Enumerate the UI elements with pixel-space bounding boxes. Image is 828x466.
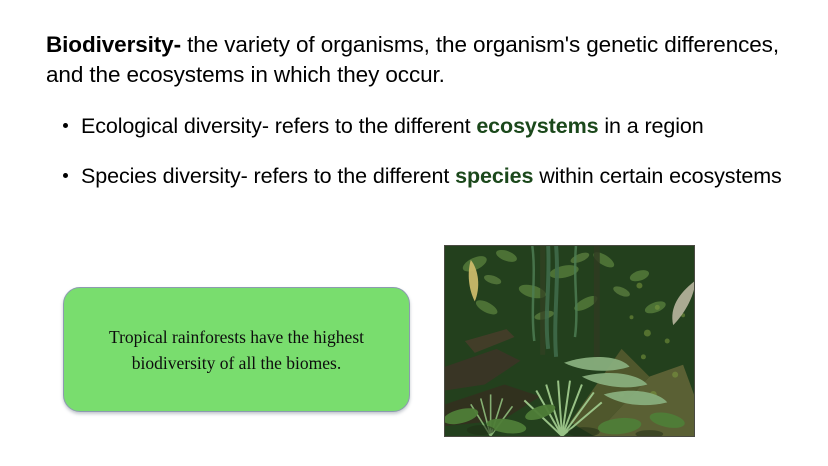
callout-text: Tropical rainforests have the highest bi… [64,324,409,376]
list-item: Species diversity- refers to the differe… [60,162,800,190]
bullet-dot-icon [63,123,68,128]
bullet-list: Ecological diversity- refers to the diff… [60,112,800,190]
callout-box: Tropical rainforests have the highest bi… [63,287,410,412]
bullet-text-after: in a region [598,114,703,138]
bullet-text-before: Species diversity- refers to the differe… [81,164,455,188]
title-lead-term: Biodiversity- [46,32,181,57]
rainforest-photo-graphic [445,246,694,436]
bullet-dot-icon [63,173,68,178]
list-item: Ecological diversity- refers to the diff… [60,112,800,140]
page-title: Biodiversity- the variety of organisms, … [46,30,798,90]
bullet-text-before: Ecological diversity- refers to the diff… [81,114,476,138]
bullet-keyword-species: species [455,164,533,188]
slide-canvas: Biodiversity- the variety of organisms, … [0,0,828,466]
bullet-keyword-ecosystems: ecosystems [476,114,598,138]
bullet-text-after: within certain ecosystems [533,164,781,188]
rainforest-photo [444,245,695,437]
